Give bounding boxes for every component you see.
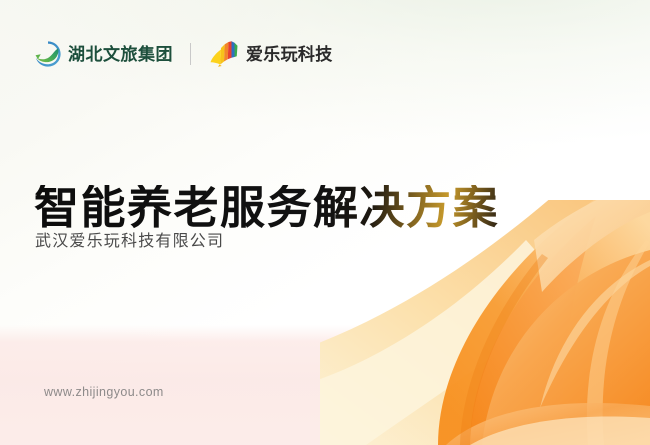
ailewan-colorful-fan-logo-icon (208, 39, 240, 69)
background-green-tint (0, 0, 650, 170)
brand-divider (190, 43, 191, 65)
company-subtitle: 武汉爱乐玩科技有限公司 (35, 227, 224, 251)
hubei-culture-tourism-swoosh-logo-icon (34, 40, 62, 68)
brand-hubei-culture-tourism: 湖北文旅集团 (34, 40, 173, 68)
brand-bar: 湖北文旅集团 爱乐玩科技 (34, 38, 333, 70)
brand-name-hubei: 湖北文旅集团 (68, 46, 173, 63)
brand-name-ailewan: 爱乐玩科技 (246, 46, 333, 63)
page-title: 智能养老服务解决方案 (34, 185, 499, 230)
presentation-cover-slide: 湖北文旅集团 爱乐玩科技 智能养老服务解 (0, 0, 650, 445)
brand-ailewan-tech: 爱乐玩科技 (208, 39, 333, 69)
footer-website-url: www.zhijingyou.com (44, 385, 164, 399)
